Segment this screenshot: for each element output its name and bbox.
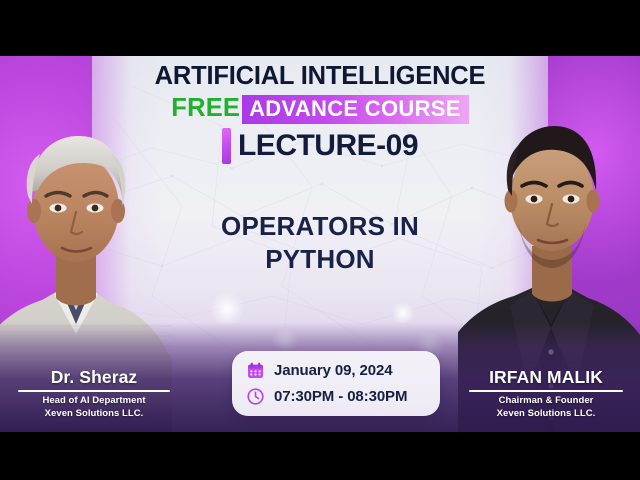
- topic-block: OPERATORS IN PYTHON: [140, 210, 500, 276]
- calendar-icon: [246, 361, 265, 380]
- schedule-time-row: 07:30PM - 08:30PM: [246, 387, 430, 406]
- headline-block: ARTIFICIAL INTELLIGENCE FREE ADVANCE COU…: [140, 64, 500, 124]
- advance-course-badge: ADVANCE COURSE: [242, 95, 469, 124]
- lecture-number: LECTURE-09: [238, 131, 418, 161]
- topic-line-1: OPERATORS IN: [140, 210, 500, 243]
- video-thumbnail: ARTIFICIAL INTELLIGENCE FREE ADVANCE COU…: [0, 0, 640, 480]
- presenter-name-right: IRFAN MALIK: [458, 368, 634, 388]
- presenter-divider-right: [469, 390, 624, 392]
- presenter-name-left: Dr. Sheraz: [8, 368, 180, 388]
- accent-bar-icon: [222, 128, 231, 164]
- course-title: ARTIFICIAL INTELLIGENCE: [140, 64, 500, 90]
- presenter-role-right: Chairman & Founder: [458, 395, 634, 407]
- presenter-role-left: Head of AI Department: [8, 395, 180, 407]
- letterbox-bottom: [0, 432, 640, 480]
- schedule-pill: January 09, 2024 07:30PM - 08:30PM: [232, 351, 440, 416]
- free-badge: FREE: [171, 95, 242, 124]
- schedule-date-row: January 09, 2024: [246, 361, 430, 380]
- bokeh-light-1: [210, 292, 244, 326]
- lecture-row: LECTURE-09: [140, 128, 500, 164]
- presenter-org-right: Xeven Solutions LLC.: [458, 408, 634, 420]
- clock-icon: [246, 387, 265, 406]
- presenter-info-left: Dr. Sheraz Head of AI Department Xeven S…: [8, 368, 180, 420]
- schedule-date: January 09, 2024: [274, 362, 393, 379]
- presenter-info-right: IRFAN MALIK Chairman & Founder Xeven Sol…: [458, 368, 634, 420]
- banner-frame: ARTIFICIAL INTELLIGENCE FREE ADVANCE COU…: [0, 56, 640, 432]
- letterbox-top: [0, 0, 640, 56]
- course-subtitle-row: FREE ADVANCE COURSE: [140, 95, 500, 124]
- presenter-org-left: Xeven Solutions LLC.: [8, 408, 180, 420]
- schedule-time: 07:30PM - 08:30PM: [274, 388, 407, 405]
- bokeh-light-3: [392, 302, 414, 324]
- presenter-divider-left: [18, 390, 169, 392]
- topic-line-2: PYTHON: [140, 243, 500, 276]
